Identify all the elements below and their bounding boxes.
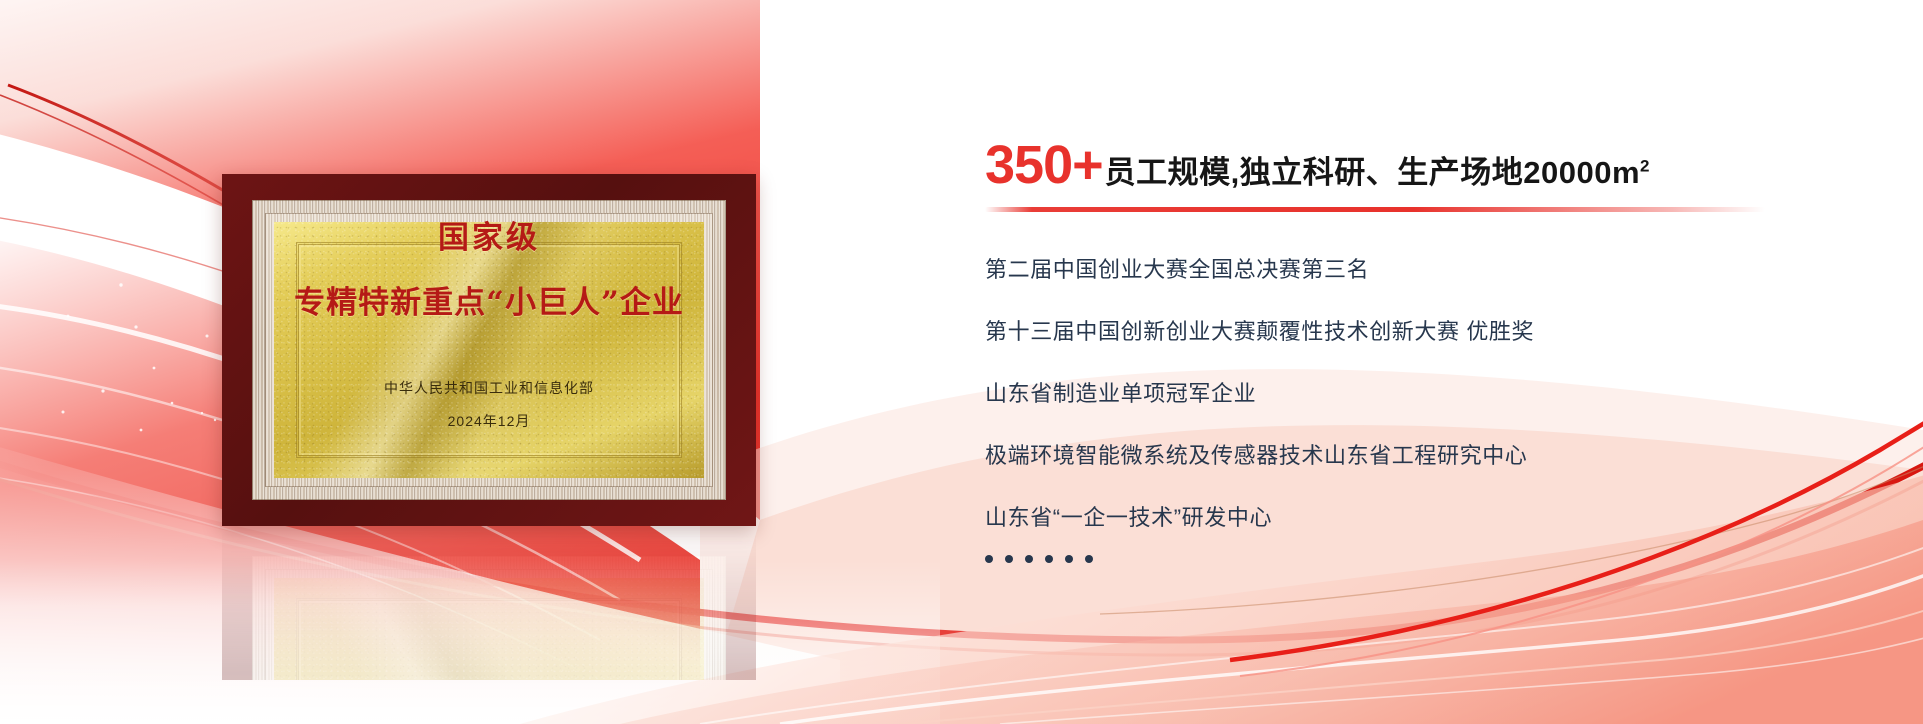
award-list-item: 第二届中国创业大赛全国总决赛第三名: [985, 259, 1865, 281]
award-list-item: 山东省制造业单项冠军企业: [985, 383, 1865, 405]
plaque-title: 国家级: [438, 212, 540, 257]
award-banner: 国家级 专精特新重点“小巨人”企业 中华人民共和国工业和信息化部 2024年12…: [0, 0, 1923, 724]
award-list-item: 山东省“一企一技术”研发中心: [985, 507, 1865, 529]
plaque-issuer: 中华人民共和国工业和信息化部: [384, 378, 594, 398]
ellipsis-dot: [1045, 555, 1053, 563]
headline-underline: [985, 207, 1765, 212]
award-plaque: 国家级 专精特新重点“小巨人”企业 中华人民共和国工业和信息化部 2024年12…: [222, 174, 756, 526]
content-column: 350+ 员工规模,独立科研、生产场地20000m2 第二届中国创业大赛全国总决…: [985, 138, 1865, 563]
award-list-item: 第十三届中国创新创业大赛颠覆性技术创新大赛 优胜奖: [985, 321, 1865, 343]
plaque-text-block: 国家级 专精特新重点“小巨人”企业 中华人民共和国工业和信息化部 2024年12…: [222, 174, 756, 526]
award-list-item: 极端环境智能微系统及传感器技术山东省工程研究中心: [985, 445, 1865, 467]
ellipsis-dot: [1065, 555, 1073, 563]
plaque-subtitle: 专精特新重点“小巨人”企业: [294, 277, 684, 322]
headline-number: 350+: [985, 138, 1103, 192]
ellipsis-dot: [1005, 555, 1013, 563]
headline: 350+ 员工规模,独立科研、生产场地20000m2: [985, 138, 1865, 192]
headline-superscript: 2: [1640, 157, 1650, 176]
ellipsis-indicator: [985, 555, 1865, 563]
ellipsis-dot: [1025, 555, 1033, 563]
plaque-date: 2024年12月: [448, 411, 531, 431]
ellipsis-dot: [1085, 555, 1093, 563]
headline-text-main: 员工规模,独立科研、生产场地20000m: [1105, 155, 1640, 190]
ellipsis-dot: [985, 555, 993, 563]
award-list: 第二届中国创业大赛全国总决赛第三名 第十三届中国创新创业大赛颠覆性技术创新大赛 …: [985, 259, 1865, 563]
headline-text: 员工规模,独立科研、生产场地20000m2: [1105, 157, 1650, 188]
